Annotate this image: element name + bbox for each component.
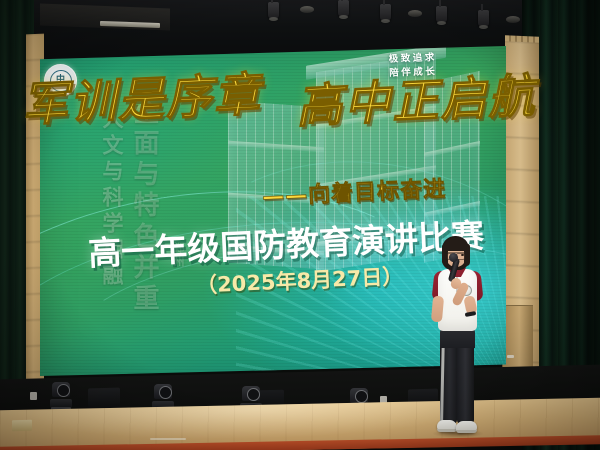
building-floor-line — [316, 165, 436, 189]
hanging-stage-light-icon — [268, 2, 279, 19]
auditorium-stage-photo: 人文与科学相融 全面与特色并重 郑州 中 极致追求 陪伴成长 军训是序章 高中正… — [0, 0, 600, 450]
person-hips — [440, 328, 475, 348]
person-shoe-right — [456, 421, 477, 433]
building-mullions — [424, 71, 480, 263]
floor-marker-block — [12, 420, 32, 431]
stage-monitor-speaker — [88, 388, 120, 409]
building-block-left — [228, 101, 324, 270]
building-floor-line — [424, 201, 480, 218]
hanging-light-disc-icon — [506, 16, 520, 23]
person-eye-right — [461, 254, 464, 256]
building-block-right — [424, 71, 480, 263]
motto-line-2: 陪伴成长 — [389, 65, 437, 80]
hanging-stage-light-icon — [478, 10, 489, 27]
moving-head-light-icon — [50, 382, 72, 408]
hanging-stage-light-icon — [436, 6, 447, 23]
person-leg-right — [457, 344, 474, 424]
watermark-calligraphy-line2: 全面与特色并重 — [126, 98, 163, 315]
floor-tape-mark — [150, 438, 186, 440]
school-emblem-character: 中 — [50, 70, 72, 92]
building-floor-line — [228, 141, 324, 153]
decorative-curve — [40, 157, 459, 376]
wall-outlet-icon — [30, 392, 37, 400]
building-floor-line — [424, 141, 480, 158]
student-speaker — [418, 236, 498, 440]
hanging-stage-light-icon — [380, 4, 391, 21]
building-mullions — [228, 101, 324, 270]
building-floor-line — [228, 193, 324, 205]
person-arm-left — [431, 296, 444, 323]
hanging-light-disc-icon — [300, 6, 314, 13]
hanging-stage-light-icon — [338, 0, 349, 17]
school-emblem-logo: 中 — [44, 64, 77, 97]
person-shoe-left — [437, 420, 457, 432]
screen-corner-motto: 极致追求 陪伴成长 — [389, 51, 438, 80]
building-floor-line — [316, 105, 436, 129]
watermark-calligraphy-line3: 郑州 — [170, 242, 186, 270]
hanging-light-disc-icon — [408, 10, 422, 17]
watermark-calligraphy-line1: 人文与科学相融 — [97, 108, 127, 290]
building-floor-line — [228, 245, 324, 257]
door-handle-icon[interactable] — [507, 355, 514, 358]
motto-line-1: 极致追求 — [389, 51, 437, 66]
